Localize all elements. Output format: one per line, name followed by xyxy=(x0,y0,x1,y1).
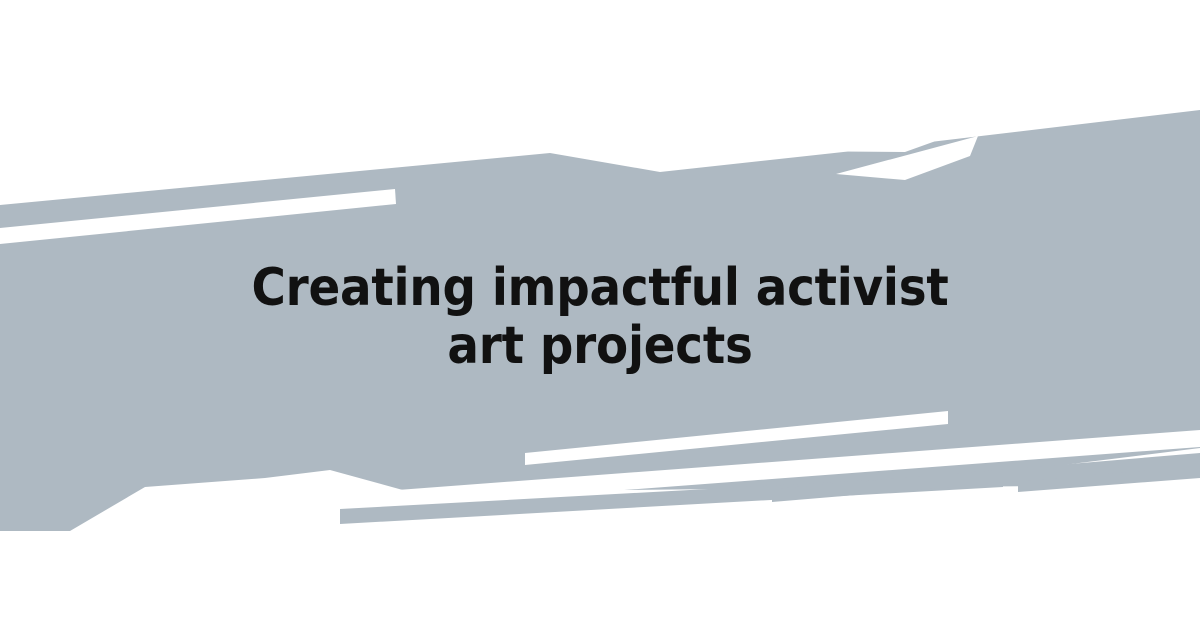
title-layer: Creating impactful activist art projects xyxy=(0,0,1200,630)
banner-card: Creating impactful activist art projects xyxy=(0,0,1200,630)
page-title: Creating impactful activist art projects xyxy=(250,259,950,375)
